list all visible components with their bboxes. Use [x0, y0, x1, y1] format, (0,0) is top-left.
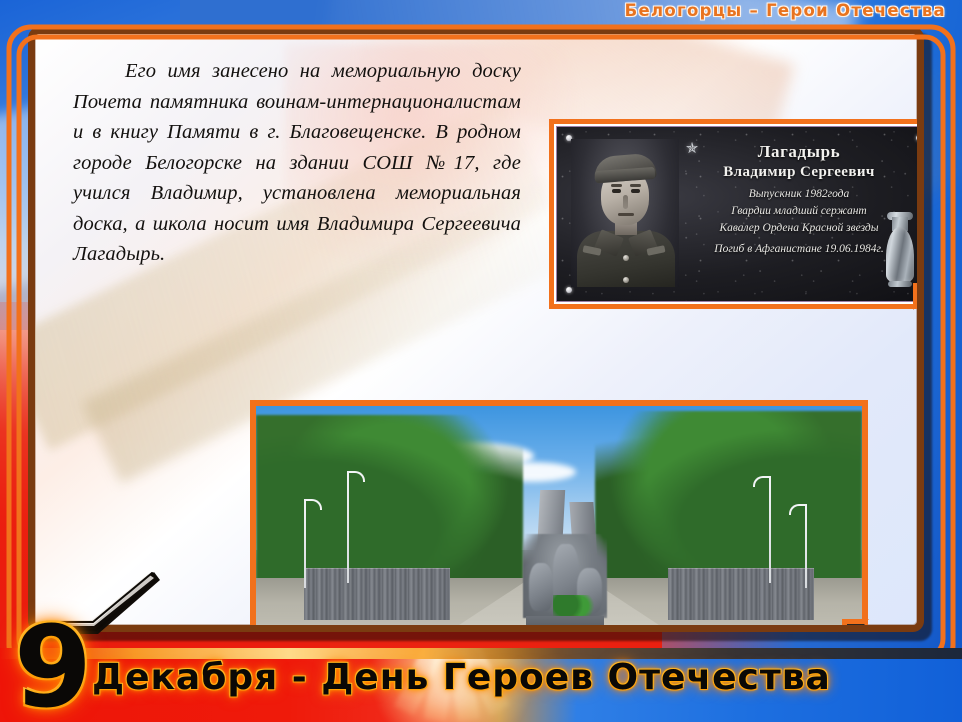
lamp-post-right-a	[769, 476, 771, 583]
soldier-portrait	[571, 139, 679, 287]
memorial-wreath	[553, 595, 595, 616]
lamp-arm-right-a	[753, 476, 771, 487]
vase-icon	[883, 209, 917, 287]
footer-banner: Декабря - День Героев Отечества	[0, 648, 962, 722]
plaque-surname: Лагадырь	[685, 141, 913, 162]
memorial-plaque-image[interactable]: ✯ Лагадырь Владимир Сергеевич Выпускник …	[549, 119, 924, 309]
lamp-arm-right-b	[789, 504, 807, 515]
plaque-inscription: Лагадырь Владимир Сергеевич Выпускник 19…	[685, 135, 913, 258]
portrait-eye-right	[631, 189, 640, 193]
page-title: Белогорцы – Герои Отечества	[625, 1, 946, 20]
monument-inner	[256, 406, 862, 632]
vase-base	[888, 281, 912, 287]
statue-figure-left	[529, 563, 553, 612]
day-number: 9	[14, 612, 92, 722]
body-paragraph: Его имя занесено на мемориальную доску П…	[73, 56, 521, 270]
plaque-inner: ✯ Лагадырь Владимир Сергеевич Выпускник …	[556, 126, 924, 302]
plaque-bolt-bottom-left	[566, 287, 572, 293]
portrait-button-lower	[623, 277, 629, 283]
plaque-corner-fold	[913, 283, 924, 310]
portrait-mouth	[618, 213, 634, 216]
lamp-post-right-b	[805, 504, 807, 588]
plaque-corner-fold-shadow	[918, 288, 924, 306]
lamp-post-left-a	[347, 471, 349, 583]
slide-root: Белогорцы – Герои Отечества Его имя зане…	[0, 0, 962, 722]
portrait-brow-right	[630, 184, 641, 187]
plaque-line-1: Выпускник 1982года	[685, 186, 913, 203]
plaque-bolt-top-right	[916, 135, 922, 141]
monument-corner-fold-shadow	[847, 624, 865, 632]
monument-pedestal	[526, 616, 605, 632]
portrait-button-upper	[623, 255, 629, 261]
vase-body	[886, 227, 914, 283]
footer-title: Декабря - День Героев Отечества	[92, 657, 831, 698]
portrait-eye-left	[612, 189, 621, 193]
memorial-wall-right	[668, 568, 813, 620]
portrait-nose	[623, 195, 628, 209]
memorial-wall-left	[304, 568, 449, 620]
lamp-post-left-b	[304, 499, 306, 588]
plaque-line-4: Погиб в Афганистане 19.06.1984г.	[685, 241, 913, 258]
plaque-line-3: Кавалер Ордена Красной звезды	[685, 220, 913, 237]
monument-corner-fold-tip	[860, 626, 868, 632]
plaque-given-name: Владимир Сергеевич	[685, 162, 913, 182]
monument-corner-fold	[842, 619, 869, 632]
plaque-line-2: Гвардии младший сержант	[685, 203, 913, 220]
portrait-brow-left	[611, 184, 622, 187]
content-panel: Его имя занесено на мемориальную доску П…	[28, 27, 924, 632]
monument-photo-image[interactable]	[250, 400, 868, 632]
